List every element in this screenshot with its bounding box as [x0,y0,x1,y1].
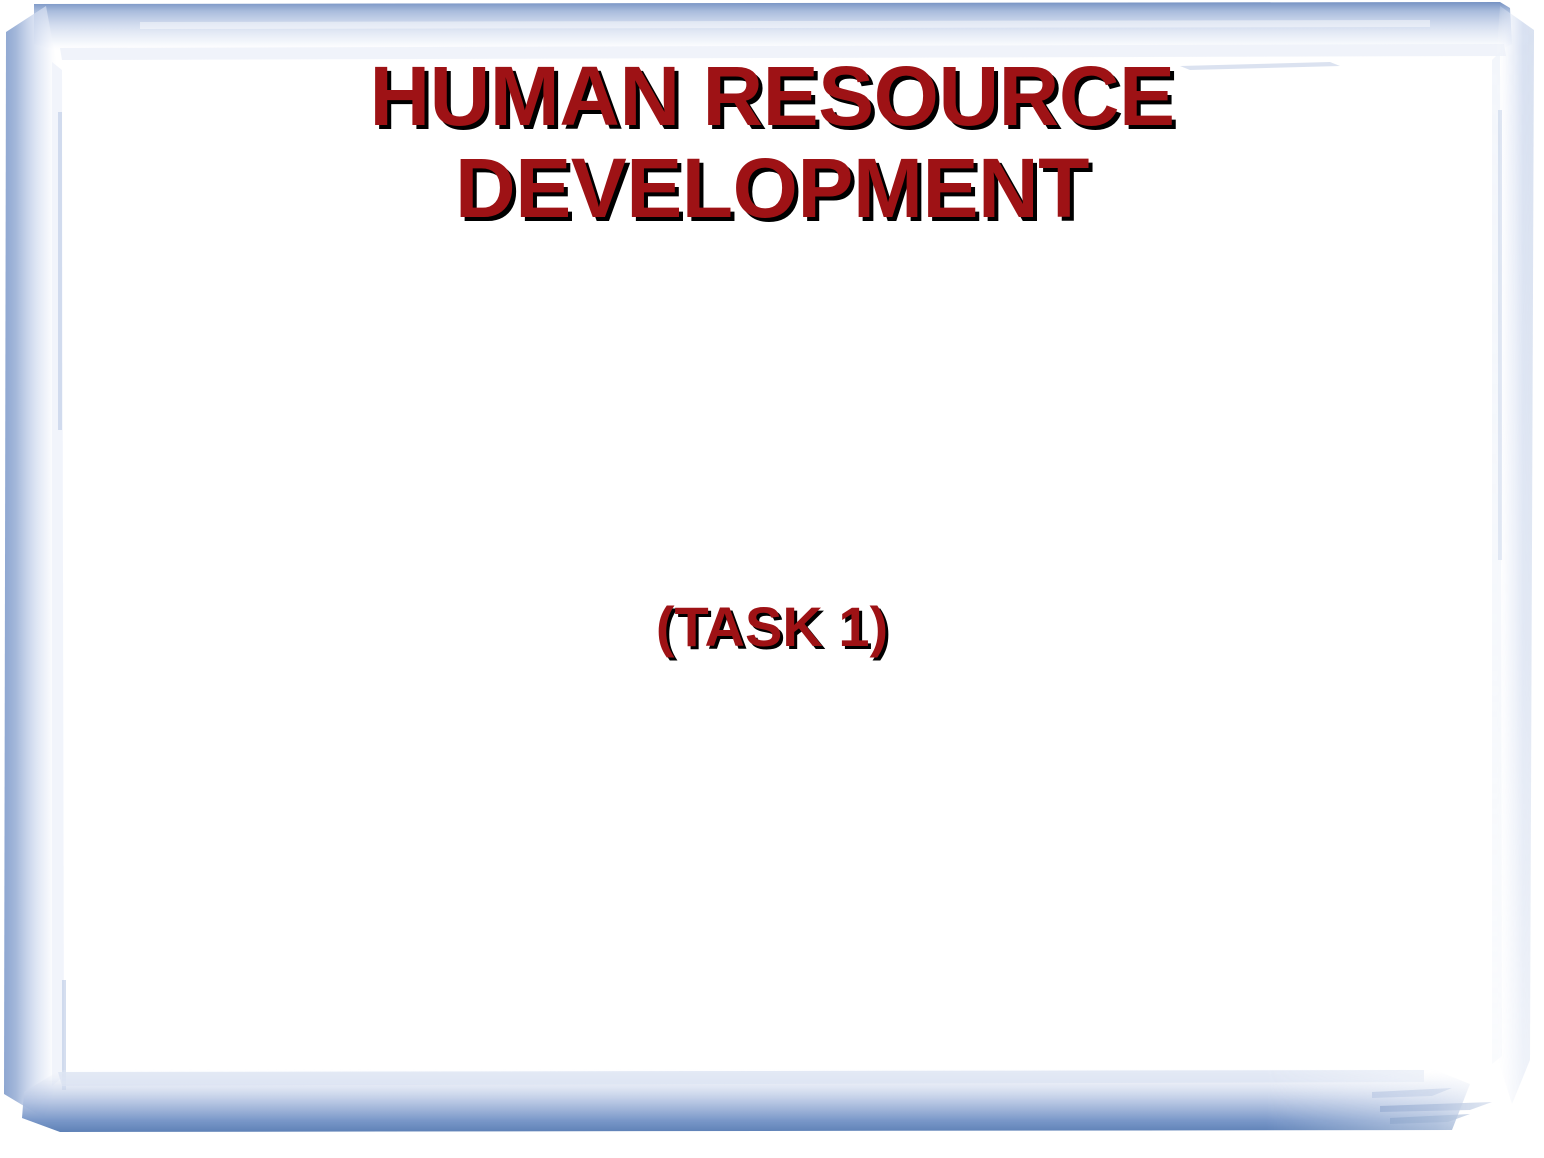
frame-stroke-left [4,6,66,1118]
frame-stroke-right [1492,6,1534,1104]
slide-content: HUMAN RESOURCE DEVELOPMENT (TASK 1) [64,50,1480,1110]
presentation-slide: HUMAN RESOURCE DEVELOPMENT (TASK 1) [0,0,1544,1158]
slide-body-area [64,700,1480,1080]
title-placeholder: HUMAN RESOURCE DEVELOPMENT [64,50,1480,235]
page-title: HUMAN RESOURCE DEVELOPMENT [64,50,1480,235]
slide-subtitle: (TASK 1) [64,595,1480,659]
subtitle-placeholder: (TASK 1) [64,595,1480,659]
